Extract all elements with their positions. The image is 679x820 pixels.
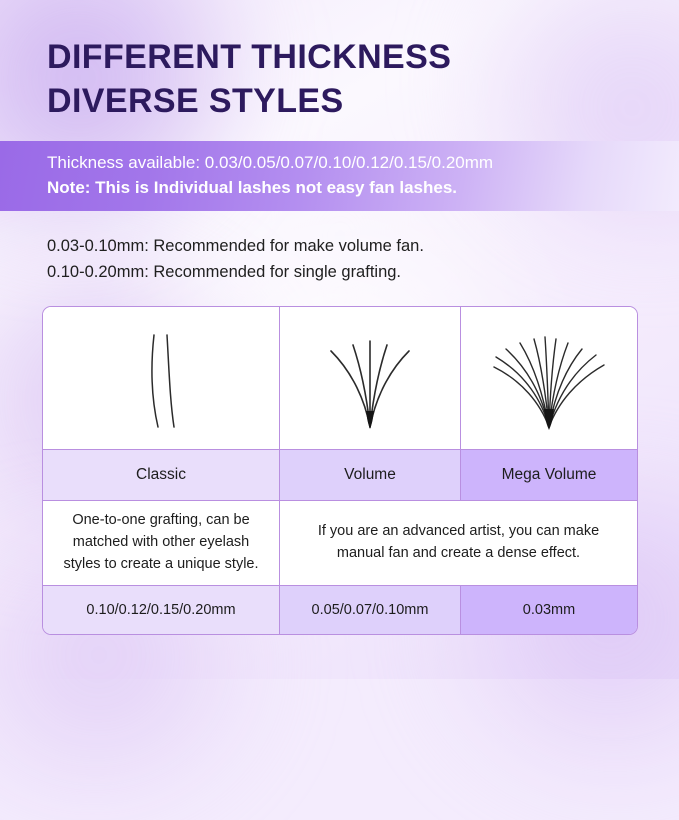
cell-classic-illustration bbox=[43, 307, 279, 449]
thickness-cell-volume: 0.05/0.07/0.10mm bbox=[279, 586, 460, 634]
banner-note-text: Note: This is Individual lashes not easy… bbox=[0, 176, 679, 201]
title-line-1: DIFFERENT THICKNESS bbox=[47, 36, 647, 80]
volume-fan-icon bbox=[315, 323, 425, 433]
table-row-illustrations bbox=[43, 307, 637, 449]
description-cell-classic: One-to-one grafting, can be matched with… bbox=[43, 501, 279, 585]
infographic-content: DIFFERENT THICKNESS DIVERSE STYLES Thick… bbox=[0, 0, 679, 679]
label-cell-volume: Volume bbox=[279, 450, 460, 500]
recommendation-item-volume-fan: 0.03-0.10mm: Recommended for make volume… bbox=[47, 234, 424, 260]
page-title: DIFFERENT THICKNESS DIVERSE STYLES bbox=[47, 36, 647, 123]
recommendation-item-single-grafting: 0.10-0.20mm: Recommended for single graf… bbox=[47, 260, 424, 286]
table-row-labels: Classic Volume Mega Volume bbox=[43, 449, 637, 500]
label-cell-mega-volume: Mega Volume bbox=[460, 450, 637, 500]
lash-comparison-table: Classic Volume Mega Volume One-to-one gr… bbox=[42, 306, 638, 635]
banner-thickness-text: Thickness available: 0.03/0.05/0.07/0.10… bbox=[0, 151, 679, 176]
cell-volume-illustration bbox=[279, 307, 460, 449]
thickness-cell-mega-volume: 0.03mm bbox=[460, 586, 637, 634]
classic-lash-icon bbox=[126, 323, 196, 433]
thickness-banner: Thickness available: 0.03/0.05/0.07/0.10… bbox=[0, 141, 679, 211]
description-cell-volume-mega: If you are an advanced artist, you can m… bbox=[279, 501, 637, 585]
title-line-2: DIVERSE STYLES bbox=[47, 80, 647, 124]
cell-mega-volume-illustration bbox=[460, 307, 637, 449]
volume-fan-base bbox=[366, 411, 374, 429]
label-cell-classic: Classic bbox=[43, 450, 279, 500]
thickness-cell-classic: 0.10/0.12/0.15/0.20mm bbox=[43, 586, 279, 634]
table-row-thickness: 0.10/0.12/0.15/0.20mm 0.05/0.07/0.10mm 0… bbox=[43, 585, 637, 634]
recommendation-list: 0.03-0.10mm: Recommended for make volume… bbox=[47, 234, 424, 285]
mega-volume-fan-icon bbox=[484, 323, 614, 433]
table-row-descriptions: One-to-one grafting, can be matched with… bbox=[43, 500, 637, 585]
